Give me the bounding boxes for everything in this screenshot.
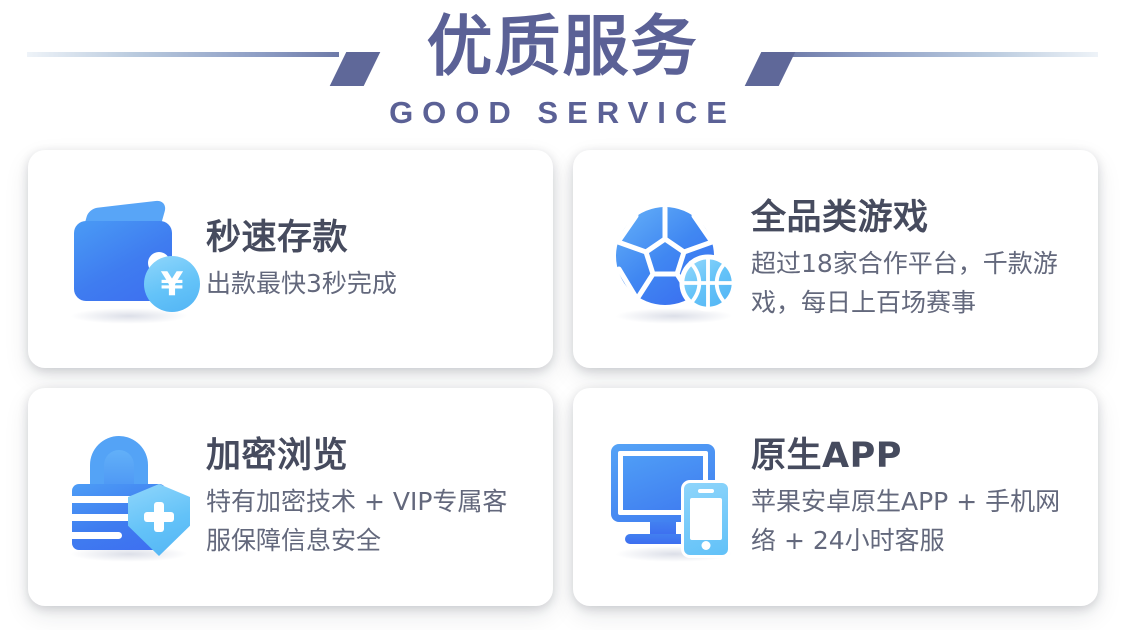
lock-slot <box>72 496 134 503</box>
feature-card-text: 原生APP 苹果安卓原生APP + 手机网络 + 24小时客服 <box>745 434 1074 560</box>
lock-slot <box>72 532 122 539</box>
feature-card-instant-deposit[interactable]: ¥ 秒速存款 出款最快3秒完成 <box>28 150 553 368</box>
cross-glyph <box>144 502 174 532</box>
phone-speaker-shape <box>698 489 714 493</box>
phone-home-button-shape <box>702 541 711 550</box>
yen-symbol: ¥ <box>161 267 184 300</box>
feature-card-all-category-games[interactable]: 全品类游戏 超过18家合作平台，千款游戏，每日上百场赛事 <box>573 150 1098 368</box>
card-title: 原生APP <box>751 434 1074 478</box>
feature-card-text: 秒速存款 出款最快3秒完成 <box>200 216 529 303</box>
page-title: 优质服务 <box>0 11 1125 83</box>
monitor-phone-icon <box>603 422 745 572</box>
card-description: 超过18家合作平台，千款游戏，每日上百场赛事 <box>751 244 1074 322</box>
soccer-basketball-icon <box>603 184 745 334</box>
card-description: 苹果安卓原生APP + 手机网络 + 24小时客服 <box>751 482 1074 560</box>
card-title: 秒速存款 <box>206 216 529 260</box>
card-title: 全品类游戏 <box>751 196 1074 240</box>
feature-card-text: 加密浏览 特有加密技术 + VIP专属客服保障信息安全 <box>200 434 529 560</box>
lock-shield-icon <box>58 422 200 572</box>
section-header: 优质服务 GOOD SERVICE <box>0 0 1125 140</box>
card-description: 出款最快3秒完成 <box>206 264 529 303</box>
wallet-coin-icon: ¥ <box>58 184 200 334</box>
card-title: 加密浏览 <box>206 434 529 478</box>
feature-card-grid: ¥ 秒速存款 出款最快3秒完成 <box>28 150 1098 606</box>
feature-card-native-app[interactable]: 原生APP 苹果安卓原生APP + 手机网络 + 24小时客服 <box>573 388 1098 606</box>
feature-card-text: 全品类游戏 超过18家合作平台，千款游戏，每日上百场赛事 <box>745 196 1074 322</box>
basketball-icon <box>679 254 737 312</box>
yen-coin-icon: ¥ <box>144 256 200 312</box>
smartphone-icon <box>681 480 731 558</box>
phone-screen-shape <box>690 498 722 540</box>
card-description: 特有加密技术 + VIP专属客服保障信息安全 <box>206 482 529 560</box>
page-subtitle: GOOD SERVICE <box>0 96 1125 130</box>
feature-card-encrypted-browsing[interactable]: 加密浏览 特有加密技术 + VIP专属客服保障信息安全 <box>28 388 553 606</box>
good-service-panel: 优质服务 GOOD SERVICE ¥ 秒速存款 出款最快3秒完成 <box>0 0 1125 630</box>
